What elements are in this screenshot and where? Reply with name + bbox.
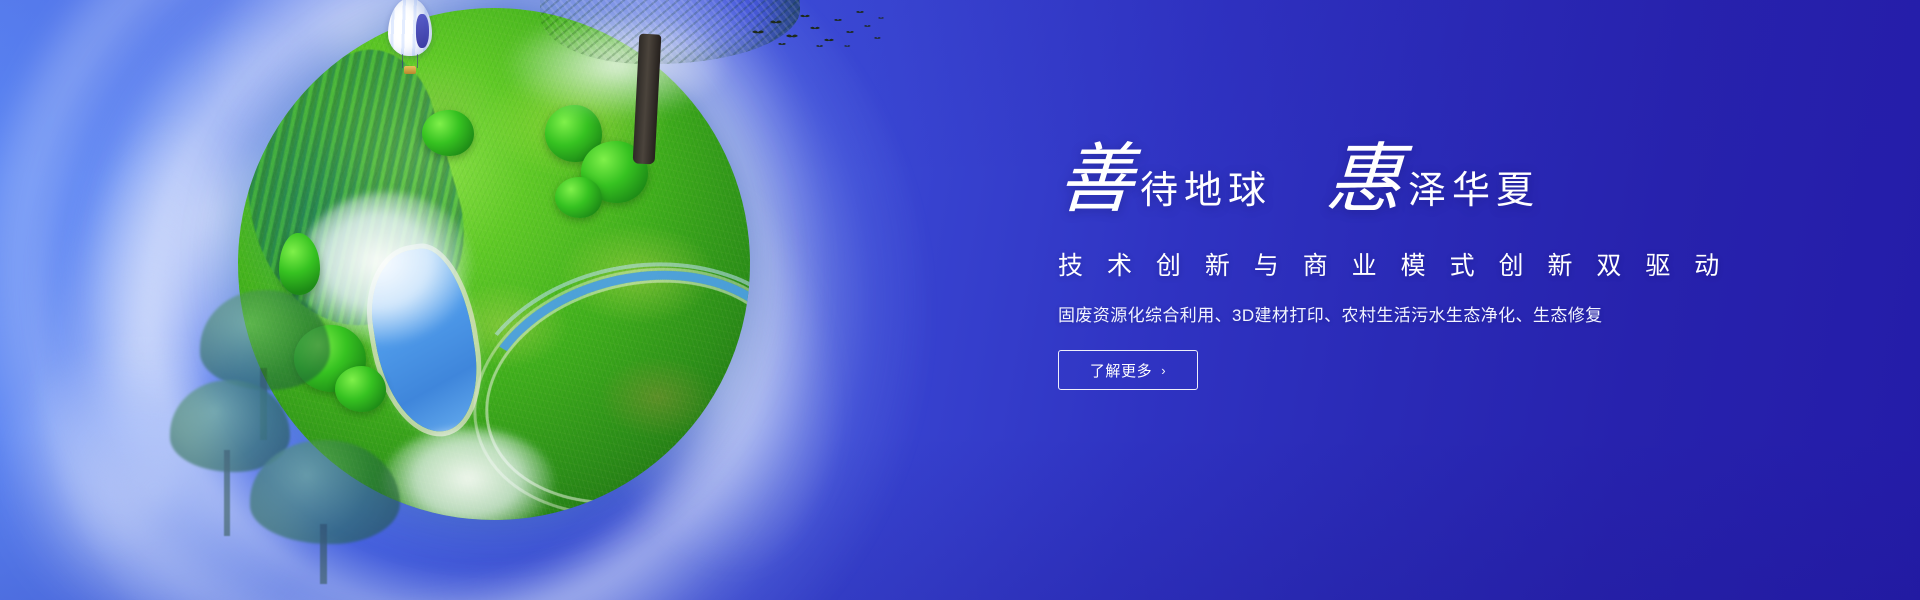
subtitle: 技 术 创 新 与 商 业 模 式 创 新 双 驱 动	[1058, 246, 1698, 282]
headline: 善 待地球 惠 泽华夏	[1058, 138, 1698, 216]
headline-zehuaxia: 泽华夏	[1408, 172, 1540, 216]
tree-silhouette	[250, 440, 400, 580]
balloon-envelope	[388, 0, 432, 56]
learn-more-label: 了解更多	[1090, 360, 1152, 381]
globe-artwork	[150, 0, 770, 600]
learn-more-button[interactable]: 了解更多 ›	[1058, 350, 1198, 390]
headline-char-shan: 善	[1056, 146, 1136, 216]
headline-daidiqiu: 待地球	[1140, 172, 1272, 216]
hero-banner: 善 待地球 惠 泽华夏 技 术 创 新 与 商 业 模 式 创 新 双 驱 动 …	[0, 0, 1920, 600]
tree-cluster	[422, 110, 473, 156]
hot-air-balloon-icon	[388, 0, 432, 80]
tree-silhouettes	[170, 290, 410, 570]
chevron-right-icon: ›	[1161, 363, 1166, 378]
description: 固废资源化综合利用、3D建材打印、农村生活污水生态净化、生态修复	[1058, 301, 1698, 326]
bird-flock-icon	[748, 6, 888, 52]
balloon-basket	[404, 66, 416, 74]
tree-cluster	[555, 177, 601, 218]
headline-char-hui: 惠	[1324, 146, 1404, 216]
hero-content: 善 待地球 惠 泽华夏 技 术 创 新 与 商 业 模 式 创 新 双 驱 动 …	[1058, 138, 1698, 390]
